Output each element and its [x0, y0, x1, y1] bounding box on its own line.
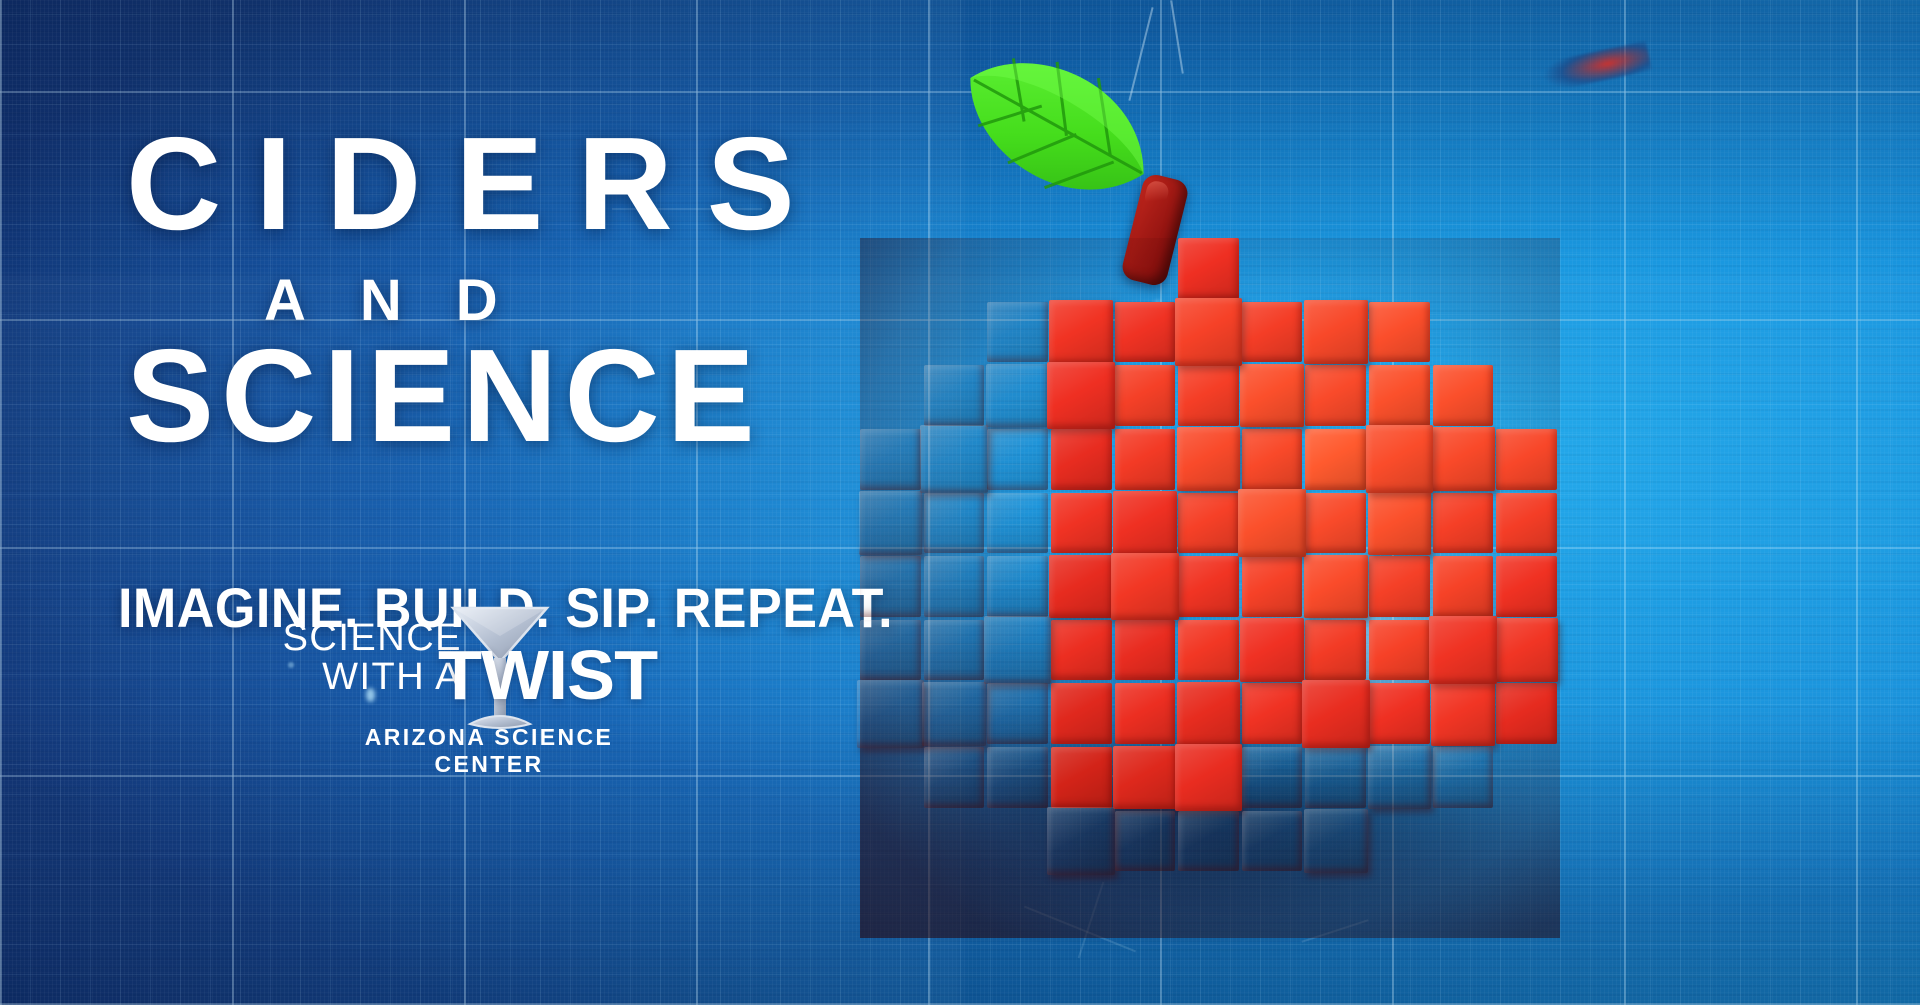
apple-voxel [987, 683, 1048, 744]
apple-voxel [1369, 365, 1430, 426]
logo-wordmark-twist: TWIST [438, 640, 657, 710]
apple-voxel [1305, 493, 1366, 554]
apple-voxel [1178, 238, 1239, 299]
apple-voxel [924, 365, 985, 426]
apple-voxel [1366, 425, 1434, 493]
apple-voxel [1304, 300, 1368, 364]
apple-voxel [1496, 556, 1557, 617]
apple-voxel [1051, 747, 1112, 808]
apple-leaf-icon [945, 22, 1170, 229]
apple-voxel [1115, 683, 1176, 744]
apple-voxel [1178, 493, 1239, 554]
apple-voxel [1369, 620, 1430, 681]
apple-voxel [1242, 683, 1303, 744]
apple-voxel [1369, 556, 1430, 617]
apple-voxel [1240, 618, 1304, 682]
apple-voxel [1431, 427, 1495, 491]
logo-script-lines: SCIENCE WITH A [252, 620, 462, 695]
apple-voxel [1431, 682, 1495, 746]
apple-voxel [860, 556, 921, 617]
apple-voxel [986, 364, 1050, 428]
apple-voxel [1433, 493, 1494, 554]
apple-voxel [1433, 365, 1494, 426]
apple-voxel [1049, 300, 1113, 364]
apple-voxel [987, 493, 1048, 554]
apple-voxel [987, 556, 1048, 617]
apple-voxel [1113, 746, 1177, 810]
apple-voxel [1113, 491, 1177, 555]
apple-voxel [1496, 493, 1557, 554]
apple-voxel [1111, 553, 1179, 621]
promo-poster: CIDERS AND SCIENCE IMAGINE. BUILD. SIP. … [0, 0, 1920, 1005]
apple-voxel [1433, 556, 1494, 617]
apple-voxel [987, 429, 1048, 490]
apple-voxel [860, 620, 921, 681]
apple-voxel [1177, 682, 1241, 746]
headline-line-3: SCIENCE [126, 330, 762, 462]
apple-voxel [1242, 556, 1303, 617]
apple-voxel [1238, 489, 1306, 557]
apple-voxel [924, 747, 985, 808]
apple-voxel [1305, 620, 1366, 681]
headline-line-1: CIDERS [126, 118, 829, 250]
apple-voxel [1049, 555, 1113, 619]
apple-voxel [1175, 744, 1243, 812]
apple-voxel-grid [860, 238, 1560, 938]
apple-voxel [1495, 618, 1559, 682]
apple-voxel [1115, 429, 1176, 490]
apple-voxel [1115, 365, 1176, 426]
logo-organization-name: ARIZONA SCIENCE CENTER [324, 724, 654, 778]
apple-voxel [1242, 747, 1303, 808]
apple-voxel [859, 491, 923, 555]
apple-voxel [1242, 429, 1303, 490]
apple-voxel [1051, 493, 1112, 554]
apple-voxel [1178, 620, 1239, 681]
apple-voxel [984, 616, 1052, 684]
logo-line-2: WITH A [252, 659, 462, 695]
apple-voxel [1304, 555, 1368, 619]
apple-voxel [857, 680, 925, 748]
apple-voxel [1047, 807, 1115, 875]
apple-voxel [1305, 747, 1366, 808]
apple-voxel [924, 493, 985, 554]
voxel-apple-illustration [840, 10, 1580, 970]
apple-voxel [1369, 683, 1430, 744]
apple-voxel [1242, 811, 1303, 872]
apple-voxel [1433, 747, 1494, 808]
apple-voxel [924, 620, 985, 681]
apple-voxel [1368, 491, 1432, 555]
apple-voxel [1051, 683, 1112, 744]
apple-voxel [1178, 556, 1239, 617]
apple-voxel [1240, 364, 1304, 428]
apple-body [860, 238, 1560, 938]
apple-voxel [1302, 680, 1370, 748]
apple-voxel [987, 747, 1048, 808]
apple-voxel [1304, 809, 1368, 873]
apple-voxel [1305, 429, 1366, 490]
apple-voxel [860, 429, 921, 490]
science-with-a-twist-logo: SCIENCE WITH A [252, 598, 652, 778]
apple-voxel [924, 556, 985, 617]
apple-voxel [1178, 365, 1239, 426]
apple-voxel [1305, 365, 1366, 426]
apple-voxel [987, 302, 1048, 363]
apple-voxel [1368, 746, 1432, 810]
apple-voxel [1115, 302, 1176, 363]
apple-voxel [1242, 302, 1303, 363]
apple-voxel [1178, 811, 1239, 872]
apple-voxel [1047, 362, 1115, 430]
logo-line-1: SCIENCE [252, 620, 462, 656]
apple-voxel [1496, 429, 1557, 490]
apple-voxel [920, 425, 988, 493]
apple-voxel [1429, 616, 1497, 684]
poster-copy-block: CIDERS AND SCIENCE IMAGINE. BUILD. SIP. … [0, 0, 880, 1005]
apple-voxel [1115, 620, 1176, 681]
apple-voxel [922, 682, 986, 746]
apple-voxel [1177, 427, 1241, 491]
apple-voxel [1051, 429, 1112, 490]
apple-voxel [1369, 302, 1430, 363]
apple-voxel [1115, 811, 1176, 872]
apple-voxel [1051, 620, 1112, 681]
apple-voxel [1175, 298, 1243, 366]
apple-voxel [1496, 683, 1557, 744]
